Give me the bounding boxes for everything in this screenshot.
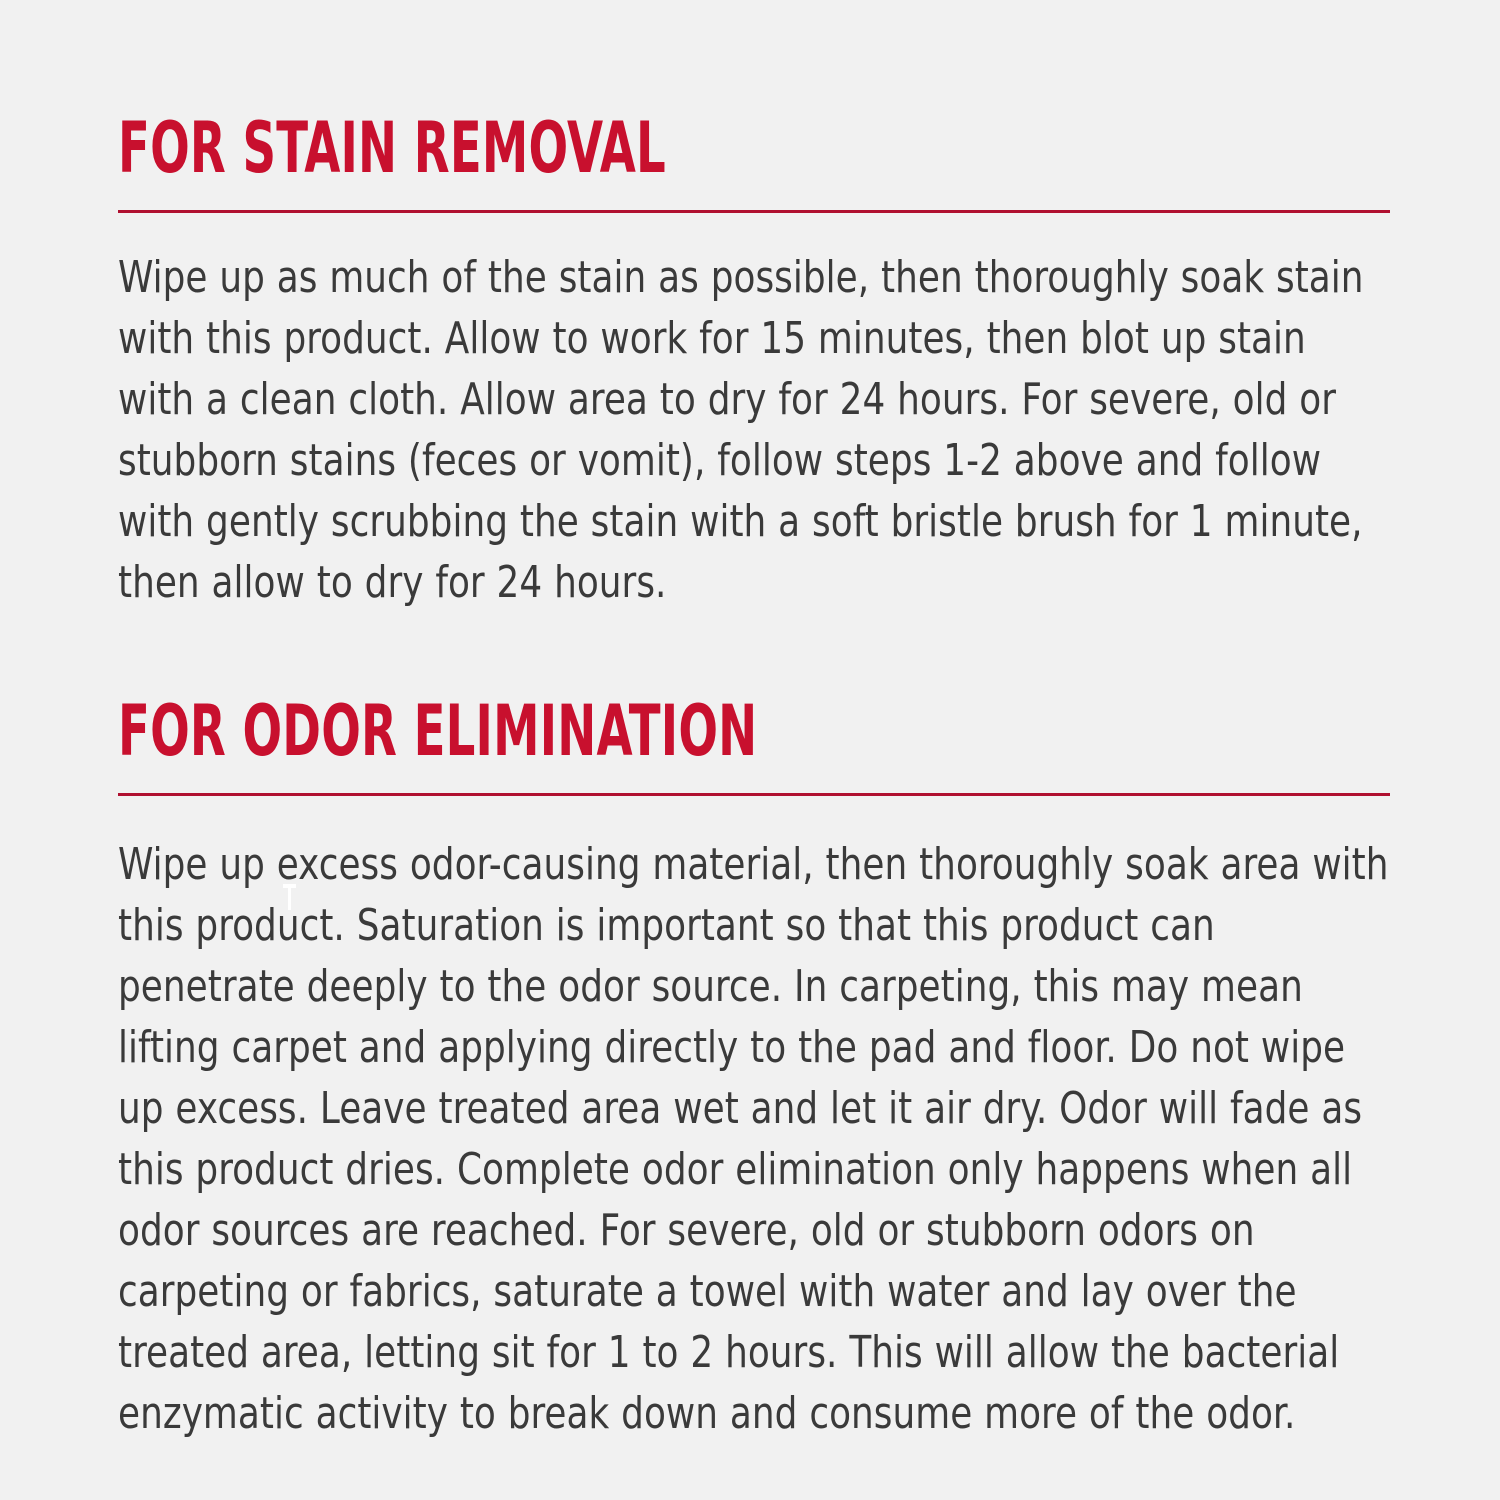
section-odor-elimination: FOR ODOR ELIMINATION Wipe up excess odor… [118, 695, 1390, 1444]
content-container: FOR STAIN REMOVAL Wipe up as much of the… [118, 112, 1390, 1444]
instruction-panel: FOR STAIN REMOVAL Wipe up as much of the… [0, 0, 1500, 1500]
section-body-odor-elimination: Wipe up excess odor-causing material, th… [118, 834, 1401, 1444]
section-divider-stain-removal [118, 210, 1390, 213]
section-heading-stain-removal: FOR STAIN REMOVAL [118, 112, 1059, 184]
section-divider-odor-elimination [118, 793, 1390, 796]
section-heading-odor-elimination: FOR ODOR ELIMINATION [118, 695, 1059, 767]
section-stain-removal: FOR STAIN REMOVAL Wipe up as much of the… [118, 112, 1390, 613]
section-body-stain-removal: Wipe up as much of the stain as possible… [118, 247, 1390, 613]
